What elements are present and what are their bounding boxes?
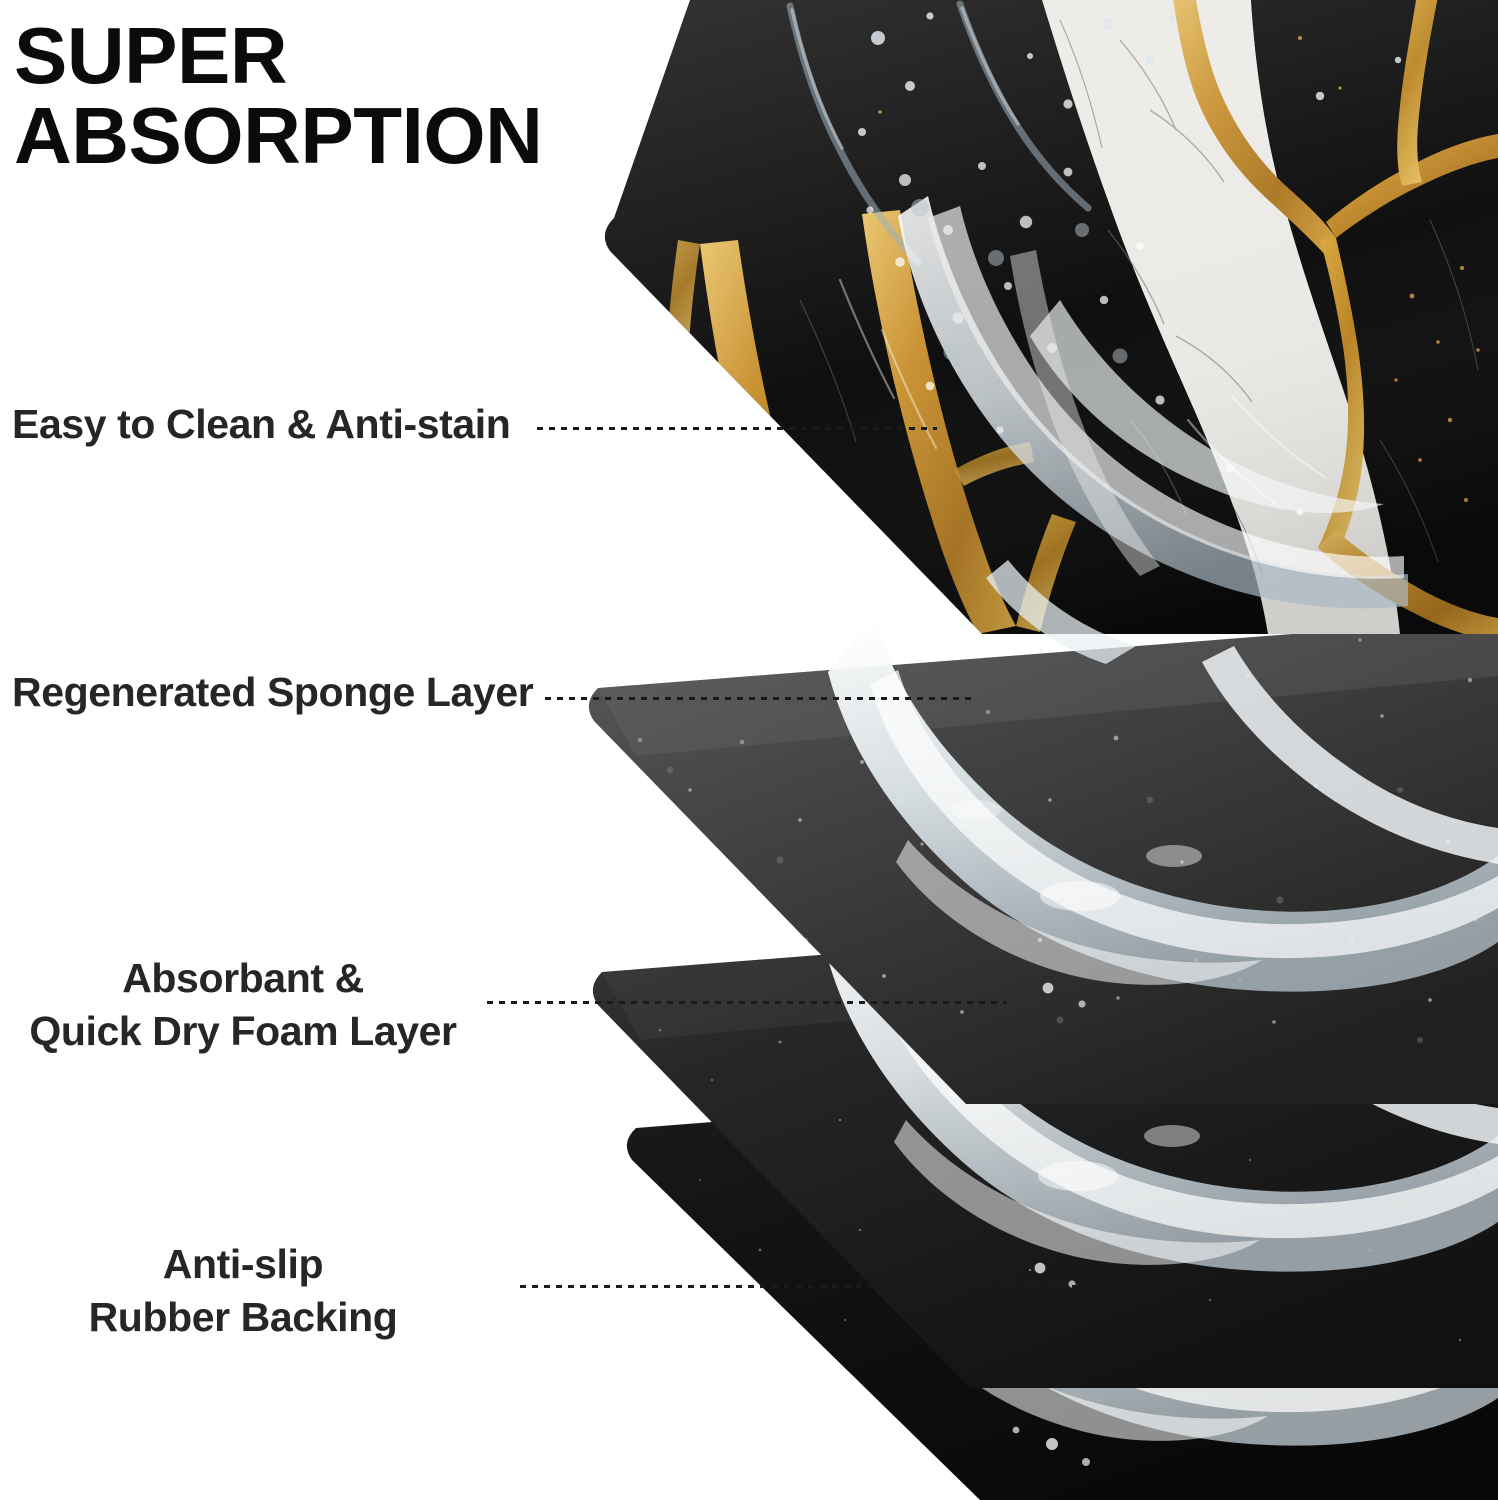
callout-foam-layer-line-1: Absorbant &	[18, 952, 468, 1005]
leader-line-foam-layer	[487, 1001, 1007, 1004]
callout-rubber-backing: Anti-slip Rubber Backing	[18, 1238, 468, 1345]
page-title: SUPER ABSORPTION	[14, 16, 654, 176]
callout-rubber-backing-line-1: Anti-slip	[18, 1238, 468, 1291]
leader-line-sponge-layer	[545, 697, 975, 700]
callout-easy-to-clean: Easy to Clean & Anti-stain	[12, 398, 510, 451]
page-title-line-1: SUPER	[14, 16, 654, 96]
callout-sponge-layer: Regenerated Sponge Layer	[12, 666, 533, 719]
callout-rubber-backing-line-2: Rubber Backing	[18, 1291, 468, 1344]
leader-line-easy-to-clean	[537, 427, 937, 430]
callout-foam-layer-line-2: Quick Dry Foam Layer	[18, 1005, 468, 1058]
callout-sponge-layer-line-1: Regenerated Sponge Layer	[12, 666, 533, 719]
leader-line-rubber-backing	[520, 1285, 1080, 1288]
product-infographic: SUPER ABSORPTION Easy to Clean & Anti-st…	[0, 0, 1498, 1500]
page-title-line-2: ABSORPTION	[14, 96, 654, 176]
callout-easy-to-clean-line-1: Easy to Clean & Anti-stain	[12, 398, 510, 451]
callout-foam-layer: Absorbant & Quick Dry Foam Layer	[18, 952, 468, 1059]
